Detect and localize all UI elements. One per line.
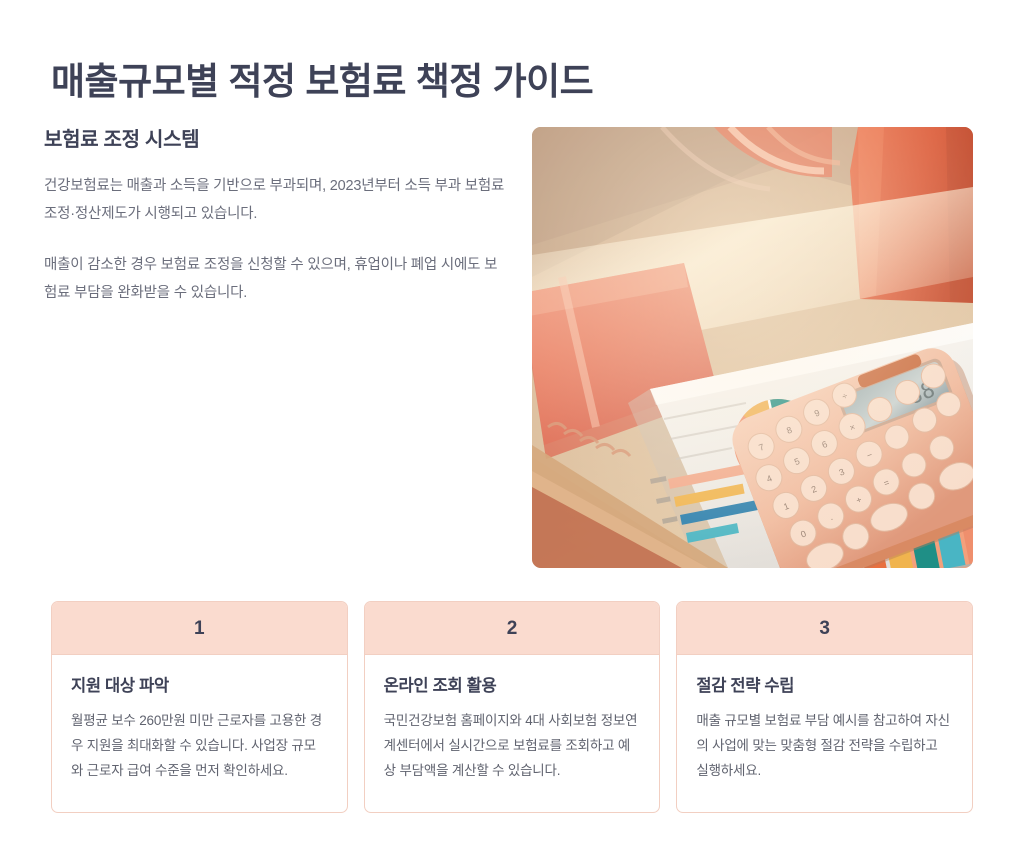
calculator-on-financial-charts-photo: 88	[532, 127, 973, 568]
page-title: 매출규모별 적정 보험료 책정 가이드	[51, 61, 593, 104]
intro-column: 보험료 조정 시스템 건강보험료는 매출과 소득을 기반으로 부과되며, 202…	[44, 126, 506, 307]
section-title: 보험료 조정 시스템	[44, 126, 506, 154]
intro-paragraph-2: 매출이 감소한 경우 보험료 조정을 신청할 수 있으며, 휴업이나 폐업 시에…	[44, 251, 506, 308]
step-card-2: 2 온라인 조회 활용 국민건강보험 홈페이지와 4대 사회보험 정보연계센터에…	[364, 601, 661, 813]
guide-page: 매출규모별 적정 보험료 책정 가이드 보험료 조정 시스템 건강보험료는 매출…	[0, 0, 1024, 858]
step-card-1-title: 지원 대상 파악	[71, 675, 328, 697]
steps-card-list: 1 지원 대상 파악 월평균 보수 260만원 미만 근로자를 고용한 경우 지…	[51, 601, 973, 813]
step-card-2-number: 2	[507, 619, 518, 638]
step-card-1-text: 월평균 보수 260만원 미만 근로자를 고용한 경우 지원을 최대화할 수 있…	[71, 709, 328, 784]
step-card-1-body: 지원 대상 파악 월평균 보수 260만원 미만 근로자를 고용한 경우 지원을…	[52, 655, 347, 806]
step-card-1: 1 지원 대상 파악 월평균 보수 260만원 미만 근로자를 고용한 경우 지…	[51, 601, 348, 813]
step-card-3-text: 매출 규모별 보험료 부담 예시를 참고하여 자신의 사업에 맞는 맞춤형 절감…	[696, 709, 953, 784]
step-card-3-header: 3	[677, 602, 972, 655]
step-card-2-title: 온라인 조회 활용	[384, 675, 641, 697]
step-card-3-title: 절감 전략 수립	[696, 675, 953, 697]
step-card-3-number: 3	[819, 619, 830, 638]
step-card-1-number: 1	[194, 619, 205, 638]
step-card-3: 3 절감 전략 수립 매출 규모별 보험료 부담 예시를 참고하여 자신의 사업…	[676, 601, 973, 813]
intro-paragraph-1: 건강보험료는 매출과 소득을 기반으로 부과되며, 2023년부터 소득 부과 …	[44, 172, 506, 229]
step-card-3-body: 절감 전략 수립 매출 규모별 보험료 부담 예시를 참고하여 자신의 사업에 …	[677, 655, 972, 806]
step-card-2-header: 2	[365, 602, 660, 655]
step-card-1-header: 1	[52, 602, 347, 655]
step-card-2-body: 온라인 조회 활용 국민건강보험 홈페이지와 4대 사회보험 정보연계센터에서 …	[365, 655, 660, 806]
step-card-2-text: 국민건강보험 홈페이지와 4대 사회보험 정보연계센터에서 실시간으로 보험료를…	[384, 709, 641, 784]
